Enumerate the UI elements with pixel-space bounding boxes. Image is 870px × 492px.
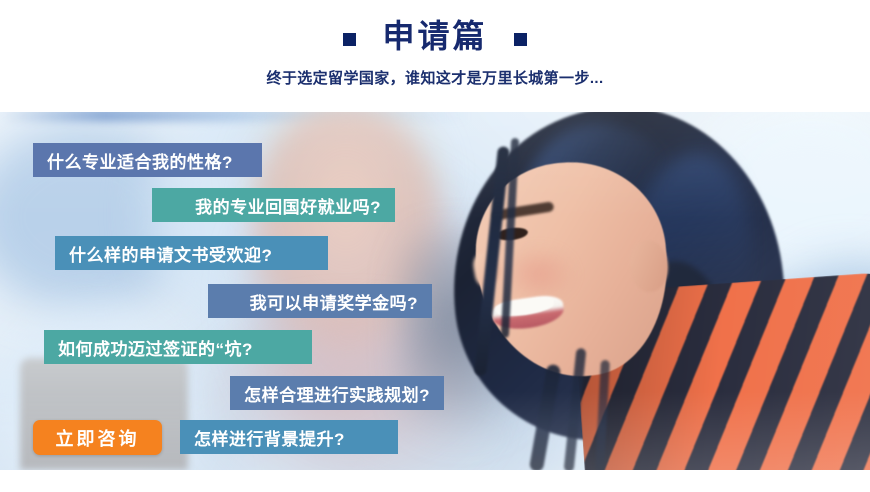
question-bar-7[interactable]: 怎样进行背景提升?: [180, 420, 398, 454]
question-label: 什么专业适合我的性格?: [47, 148, 233, 173]
question-bar-3[interactable]: 什么样的申请文书受欢迎?: [55, 236, 328, 270]
question-label: 我的专业回国好就业吗?: [195, 193, 381, 218]
square-bullet-left-icon: [343, 33, 356, 46]
question-label: 怎样合理进行实践规划?: [244, 381, 430, 406]
question-bar-5[interactable]: 如何成功迈过签证的“坑?: [44, 330, 312, 364]
footer-strip: [0, 470, 870, 492]
banner-header: 申请篇 终于选定留学国家，谁知这才是万里长城第一步...: [0, 0, 870, 112]
question-bar-2[interactable]: 我的专业回国好就业吗?: [152, 188, 395, 222]
hero-photo: 什么专业适合我的性格? 我的专业回国好就业吗? 什么样的申请文书受欢迎? 我可以…: [0, 112, 870, 470]
question-label: 我可以申请奖学金吗?: [250, 289, 418, 314]
page-subtitle: 终于选定留学国家，谁知这才是万里长城第一步...: [266, 67, 603, 88]
page-title: 申请篇: [382, 18, 487, 55]
question-label: 怎样进行背景提升?: [194, 425, 345, 450]
foreground-student: [430, 112, 870, 470]
question-bar-1[interactable]: 什么专业适合我的性格?: [33, 143, 262, 177]
question-bar-6[interactable]: 怎样合理进行实践规划?: [230, 376, 444, 410]
consult-now-button[interactable]: 立即咨询: [33, 420, 162, 455]
consult-now-label: 立即咨询: [56, 425, 140, 451]
title-row: 申请篇: [343, 18, 526, 55]
question-label: 如何成功迈过签证的“坑?: [58, 335, 253, 360]
square-bullet-right-icon: [514, 33, 527, 46]
question-label: 什么样的申请文书受欢迎?: [69, 241, 272, 266]
question-bar-4[interactable]: 我可以申请奖学金吗?: [208, 284, 432, 318]
promo-banner: 申请篇 终于选定留学国家，谁知这才是万里长城第一步...: [0, 0, 870, 492]
